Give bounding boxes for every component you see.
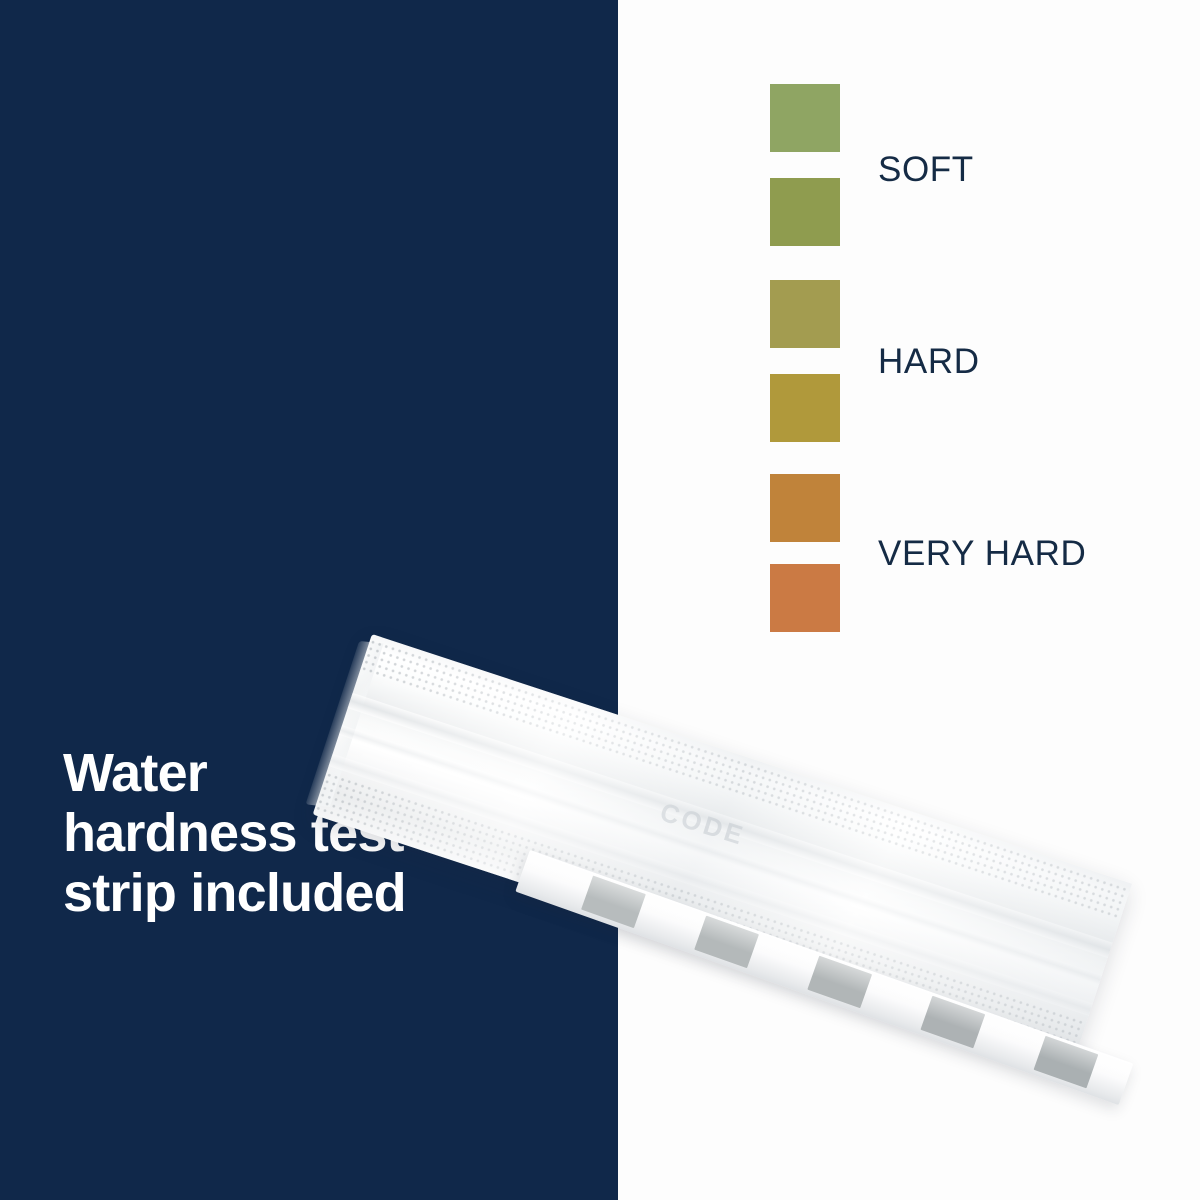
headline-line-1: Water bbox=[63, 744, 533, 804]
hardness-swatch-2 bbox=[770, 178, 840, 246]
hardness-swatch-4 bbox=[770, 374, 840, 442]
headline: Water hardness test strip included bbox=[63, 744, 533, 924]
hardness-swatch-1 bbox=[770, 84, 840, 152]
hardness-swatch-6 bbox=[770, 564, 840, 632]
hardness-swatch-3 bbox=[770, 280, 840, 348]
headline-line-3: strip included bbox=[63, 864, 533, 924]
hardness-scale-labels: SOFT HARD VERY HARD bbox=[878, 84, 1178, 632]
headline-line-2: hardness test bbox=[63, 804, 533, 864]
product-marketing-image: SOFT HARD VERY HARD Water hardness test … bbox=[0, 0, 1200, 1200]
navy-background-panel bbox=[0, 0, 618, 1200]
hardness-label-soft: SOFT bbox=[878, 150, 974, 190]
hardness-label-hard: HARD bbox=[878, 342, 980, 382]
hardness-label-very-hard: VERY HARD bbox=[878, 534, 1086, 574]
hardness-swatch-5 bbox=[770, 474, 840, 542]
hardness-scale-swatches bbox=[770, 84, 840, 632]
